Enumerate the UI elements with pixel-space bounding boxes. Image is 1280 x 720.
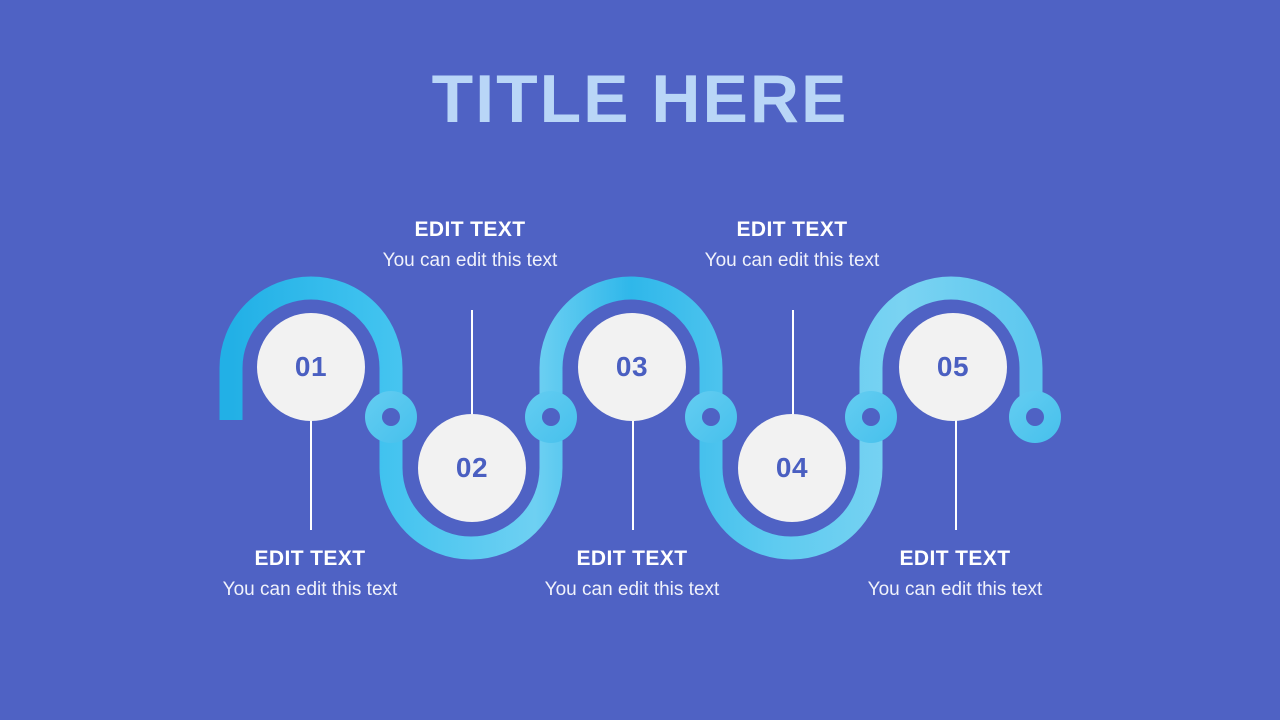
- infographic-slide: TITLE HERE: [0, 0, 1280, 720]
- connector-line-4: [792, 310, 794, 415]
- step-label-title-1: EDIT TEXT: [170, 546, 450, 571]
- ribbon-marker-4: [845, 391, 897, 443]
- step-label-desc-2: You can edit this text: [330, 248, 610, 274]
- step-label-3[interactable]: EDIT TEXT You can edit this text: [492, 546, 772, 603]
- step-node-3[interactable]: 03: [578, 313, 686, 421]
- step-label-desc-3: You can edit this text: [492, 577, 772, 603]
- step-label-desc-1: You can edit this text: [170, 577, 450, 603]
- step-label-title-2: EDIT TEXT: [330, 217, 610, 242]
- step-label-title-5: EDIT TEXT: [815, 546, 1095, 571]
- step-label-desc-4: You can edit this text: [652, 248, 932, 274]
- step-label-title-3: EDIT TEXT: [492, 546, 772, 571]
- step-label-2[interactable]: EDIT TEXT You can edit this text: [330, 217, 610, 274]
- step-number-5: 05: [937, 351, 969, 383]
- connector-line-2: [471, 310, 473, 415]
- ribbon-marker-2: [525, 391, 577, 443]
- step-node-5[interactable]: 05: [899, 313, 1007, 421]
- connector-line-1: [310, 420, 312, 530]
- connector-line-3: [632, 420, 634, 530]
- step-number-4: 04: [776, 452, 808, 484]
- step-label-title-4: EDIT TEXT: [652, 217, 932, 242]
- ribbon-marker-5: [1009, 391, 1061, 443]
- ribbon-marker-3: [685, 391, 737, 443]
- step-number-2: 02: [456, 452, 488, 484]
- step-label-4[interactable]: EDIT TEXT You can edit this text: [652, 217, 932, 274]
- step-number-1: 01: [295, 351, 327, 383]
- step-node-4[interactable]: 04: [738, 414, 846, 522]
- connector-line-5: [955, 420, 957, 530]
- step-node-1[interactable]: 01: [257, 313, 365, 421]
- step-label-5[interactable]: EDIT TEXT You can edit this text: [815, 546, 1095, 603]
- step-node-2[interactable]: 02: [418, 414, 526, 522]
- ribbon-marker-1: [365, 391, 417, 443]
- step-label-desc-5: You can edit this text: [815, 577, 1095, 603]
- step-label-1[interactable]: EDIT TEXT You can edit this text: [170, 546, 450, 603]
- step-number-3: 03: [616, 351, 648, 383]
